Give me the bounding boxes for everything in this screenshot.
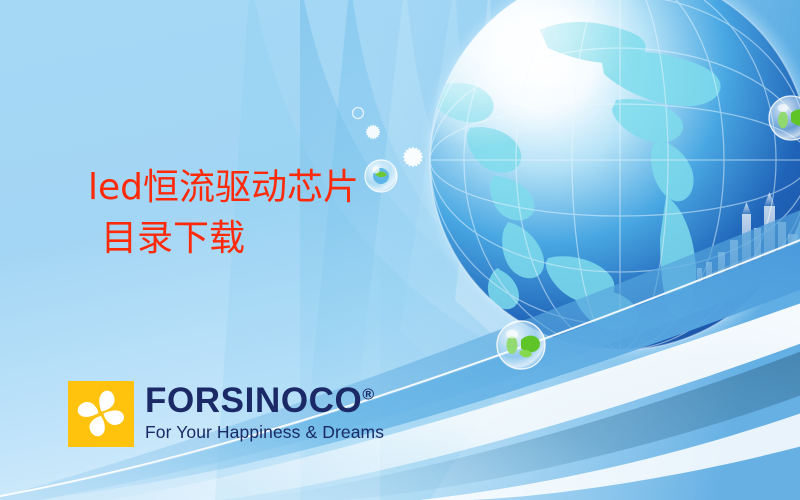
brand-name: FORSINOCO® <box>145 383 384 418</box>
forsinoco-pinwheel-mark <box>68 381 134 447</box>
bubble-leaf-left <box>497 321 545 369</box>
bubble-globe <box>365 160 397 192</box>
company-logo: FORSINOCO® For Your Happiness & Dreams <box>68 381 384 447</box>
pinwheel-icon <box>68 381 134 447</box>
logo-text-block: FORSINOCO® For Your Happiness & Dreams <box>145 381 384 442</box>
headline-text: led恒流驱动芯片 目录下载 <box>88 162 359 264</box>
brand-name-text: FORSINOCO <box>145 381 362 420</box>
brand-tagline: For Your Happiness & Dreams <box>145 424 384 442</box>
headline-line-2: 目录下载 <box>88 213 359 264</box>
registered-trademark-symbol: ® <box>362 386 374 403</box>
headline-line-1: led恒流驱动芯片 <box>88 162 359 213</box>
banner-image: led恒流驱动芯片 目录下载 FORSINOCO® For Your Happi… <box>0 0 800 500</box>
